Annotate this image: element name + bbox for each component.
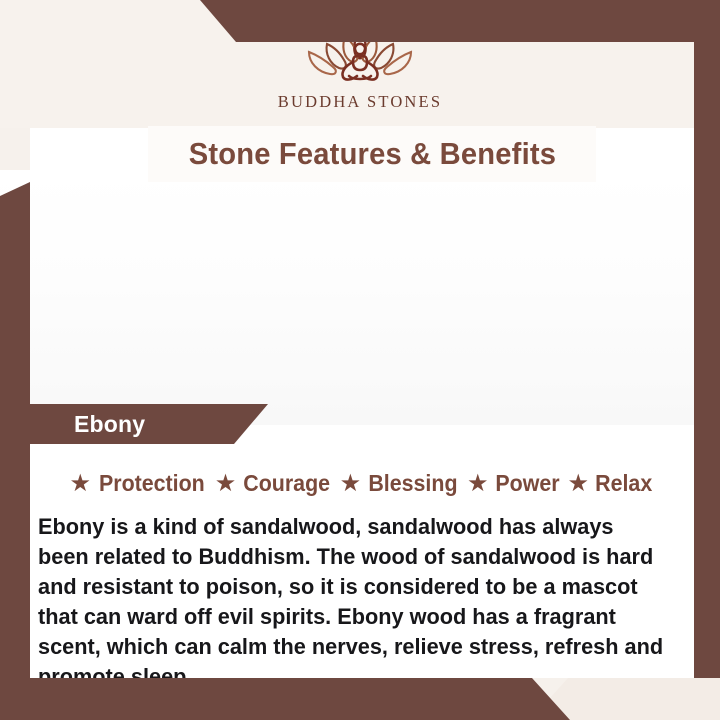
benefit-label: Relax [595,470,652,497]
brand-name: BUDDHA STONES [278,92,442,112]
benefit-item: ★ Relax [568,470,655,497]
benefit-label: Blessing [368,470,457,497]
frame-left-bar [0,182,30,720]
star-icon: ★ [215,472,237,496]
benefits-row: ★ Protection ★ Courage ★ Blessing ★ Powe… [30,470,694,497]
frame-right-bar [694,0,720,720]
benefit-label: Power [495,470,559,497]
product-label: Ebony [74,411,145,438]
benefit-item: ★ Courage [215,470,334,497]
star-icon: ★ [340,472,362,496]
page-title: Stone Features & Benefits [188,136,555,172]
product-label-bar: Ebony [0,404,268,444]
star-icon: ★ [568,472,590,496]
photo-background [0,170,720,425]
product-description: Ebony is a kind of sandalwood, sandalwoo… [38,512,667,692]
product-photo [0,170,720,425]
benefit-item: ★ Power [467,470,562,497]
star-icon: ★ [70,472,92,496]
page-title-panel: Stone Features & Benefits [148,126,596,182]
benefit-label: Courage [244,470,331,497]
benefit-item: ★ Blessing [340,470,461,497]
benefit-item: ★ Protection [70,470,209,497]
product-feature-poster: BUDDHA STONES [0,0,720,720]
star-icon: ★ [467,472,489,496]
benefit-label: Protection [99,470,205,497]
